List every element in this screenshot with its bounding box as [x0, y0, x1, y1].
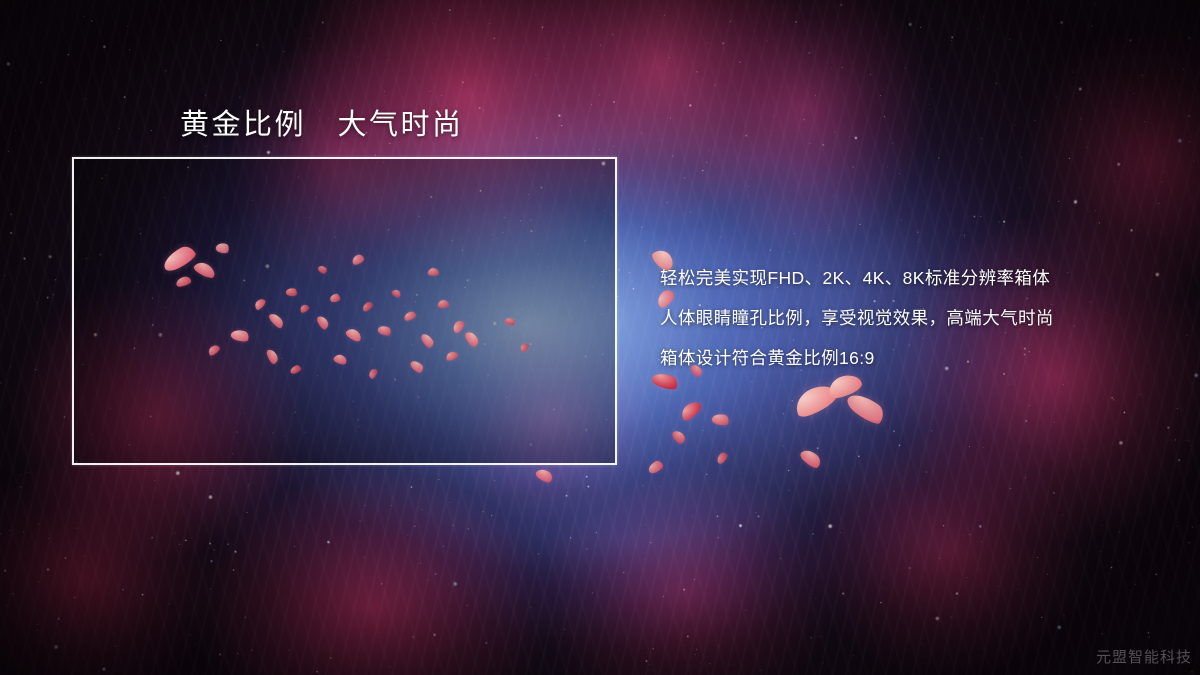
flower-petal: [799, 446, 824, 471]
presentation-slide: 黄金比例 大气时尚 轻松完美实现FHD、2K、4K、8K标准分辨率箱体 人体眼睛…: [0, 0, 1200, 675]
flower-petal: [647, 459, 665, 475]
feature-line: 人体眼睛瞳孔比例，享受视觉效果，高端大气时尚: [660, 298, 1180, 338]
feature-line: 箱体设计符合黄金比例16:9: [660, 338, 1180, 378]
flower-petal: [711, 412, 730, 427]
flower-petal: [844, 388, 888, 428]
flower-petal: [534, 466, 554, 485]
preview-frame: [72, 157, 617, 465]
flower-petal: [715, 451, 729, 465]
flower-petal: [678, 399, 704, 422]
preview-frame-dim-overlay: [74, 159, 615, 463]
flower-petal: [671, 428, 687, 445]
page-title: 黄金比例 大气时尚: [180, 101, 464, 143]
watermark: 元盟智能科技: [1096, 646, 1192, 667]
feature-line: 轻松完美实现FHD、2K、4K、8K标准分辨率箱体: [660, 258, 1180, 298]
flower-petal: [791, 381, 841, 420]
feature-list: 轻松完美实现FHD、2K、4K、8K标准分辨率箱体 人体眼睛瞳孔比例，享受视觉效…: [660, 258, 1180, 378]
